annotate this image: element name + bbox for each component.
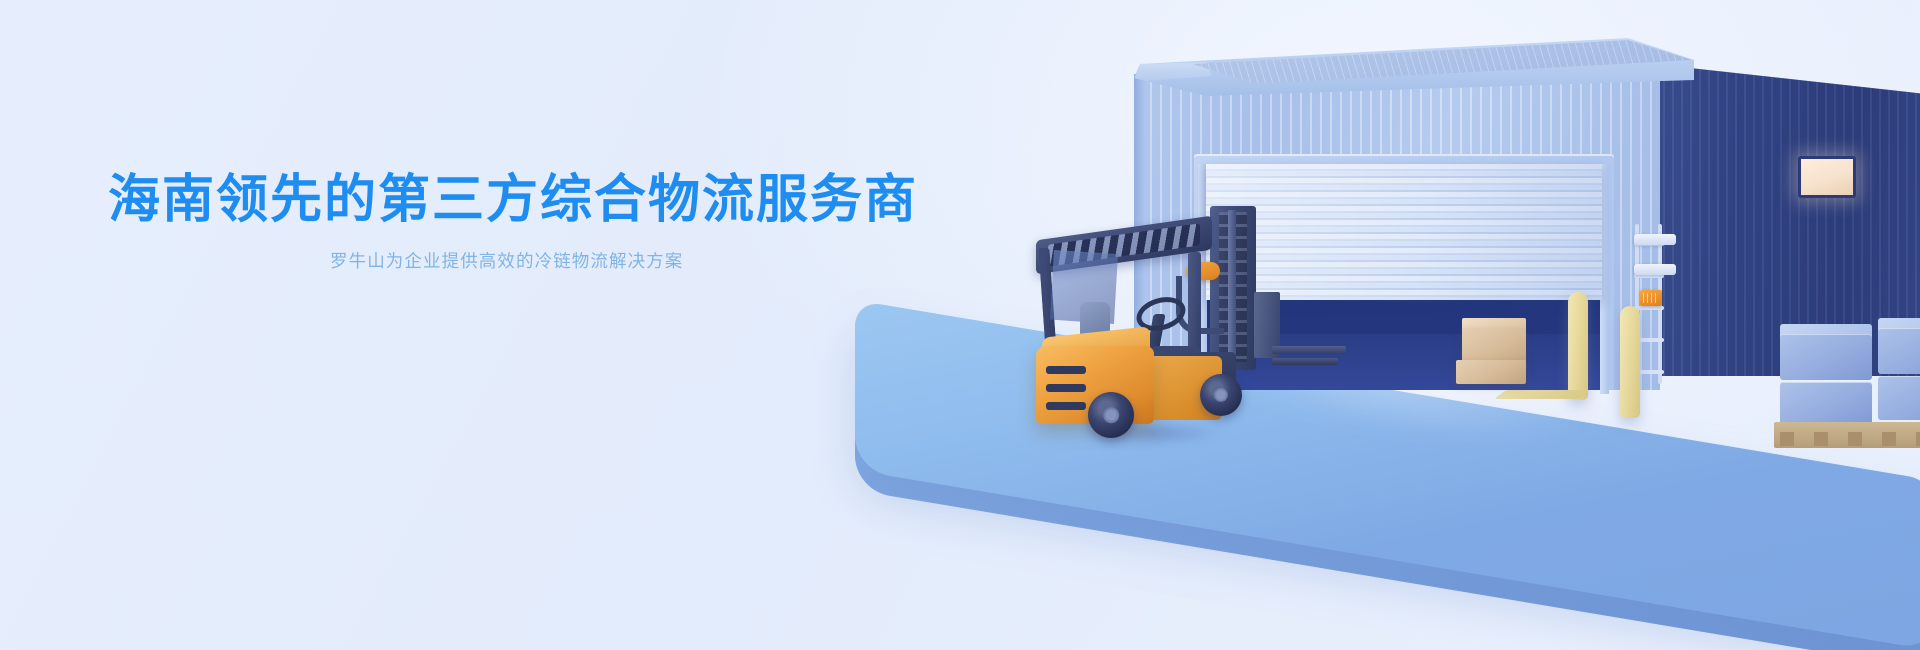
hazard-sign-icon [1640,290,1662,306]
blue-crate [1878,376,1920,420]
forklift-vent [1046,384,1086,392]
safety-bollard [1568,292,1588,400]
ladder-rung [1634,306,1664,310]
forklift-mast-rail [1228,210,1236,368]
wall-plate [1634,264,1676,275]
lit-window-icon [1798,156,1856,198]
floor-marking-strip [1494,390,1590,399]
warehouse-illustration [860,0,1920,650]
forklift [1028,206,1318,438]
safety-bollard [1620,306,1640,418]
forklift-fork [1272,358,1338,365]
forklift-fork [1272,346,1346,354]
wooden-pallet [1774,422,1920,448]
palletized-crates [1774,314,1920,446]
hero-copy: 海南领先的第三方综合物流服务商 罗牛山为企业提供高效的冷链物流解决方案 [108,168,968,275]
hero-banner: 海南领先的第三方综合物流服务商 罗牛山为企业提供高效的冷链物流解决方案 [0,0,1920,650]
forklift-vent [1046,366,1086,374]
blue-crate [1780,382,1872,426]
blue-crate [1878,328,1920,374]
forklift-front-wheel [1088,392,1134,438]
cardboard-carton [1456,360,1526,384]
forklift-vent [1046,402,1086,410]
hero-headline: 海南领先的第三方综合物流服务商 [108,168,968,232]
forklift-rear-wheel [1200,374,1242,416]
hero-subtitle: 罗牛山为企业提供高效的冷链物流解决方案 [330,248,968,274]
blue-crate [1780,334,1872,380]
wall-plate [1634,234,1676,245]
